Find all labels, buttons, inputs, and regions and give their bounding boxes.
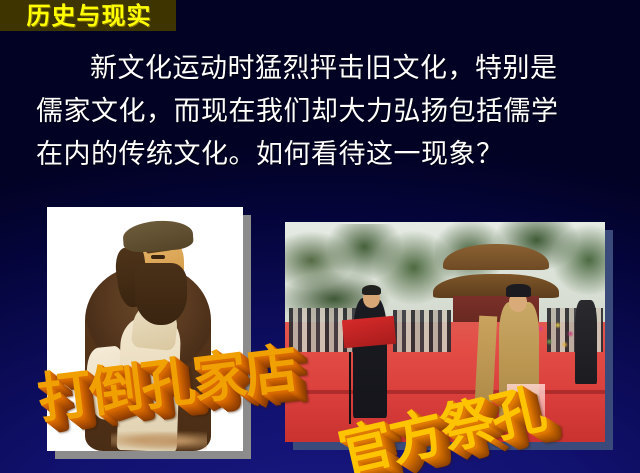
body-line-3: 在内的传统文化。如何看待这一现象？ [36, 133, 616, 176]
ceremony-speaker-hair [362, 285, 381, 295]
ceremony-carpet-seam [285, 390, 605, 394]
ceremony-photo-image [285, 222, 605, 442]
body-line-1: 新文化运动时猛烈抨击旧文化，特别是 [36, 47, 616, 90]
slide-body-text: 新文化运动时猛烈抨击旧文化，特别是 儒家文化，而现在我们却大力弘扬包括儒学 在内… [36, 47, 616, 176]
ceremony-official-hat [506, 284, 531, 297]
ceremony-white-chair [507, 384, 545, 418]
temple-lower-roof [433, 274, 559, 298]
confucius-shoes [111, 429, 207, 451]
body-line-2: 儒家文化，而现在我们却大力弘扬包括儒学 [36, 90, 616, 133]
slide-title-text: 历史与现实 [27, 4, 152, 28]
ceremony-guard-figure [575, 300, 597, 384]
ceremony-red-folder [342, 316, 396, 348]
temple-upper-roof [443, 244, 549, 270]
presentation-slide: 历史与现实 新文化运动时猛烈抨击旧文化，特别是 儒家文化，而现在我们却大力弘扬包… [0, 0, 640, 473]
confucius-portrait-image [47, 207, 243, 451]
slide-title-banner: 历史与现实 [0, 0, 176, 31]
ceremony-microphone-stand [349, 352, 351, 424]
ceremony-crowd-middle [393, 310, 451, 352]
confucius-hat [122, 219, 194, 254]
confucius-beard [135, 263, 187, 325]
confucius-eye [151, 255, 165, 259]
